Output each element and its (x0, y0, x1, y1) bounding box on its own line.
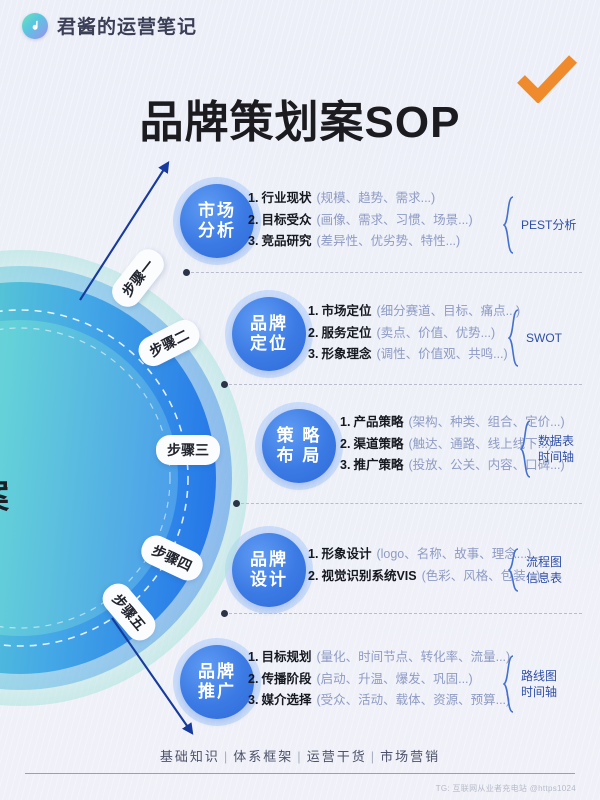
curly-brace-icon (503, 655, 516, 713)
item-sub: (受众、活动、载体、资源、预算...) (316, 694, 510, 707)
brace-label-line1: SWOT (526, 330, 562, 346)
footer-tag-0: 基础知识 (160, 749, 220, 764)
section-divider-2 (224, 384, 582, 385)
brand-title: 君酱的运营笔记 (57, 12, 197, 39)
divider-dot-3 (233, 500, 240, 507)
brace-label-2: SWOT (526, 330, 562, 346)
divider-dot-1 (183, 269, 190, 276)
badge-line1: 策 略 (277, 426, 322, 446)
brace-label-5: 路线图 时间轴 (521, 668, 557, 700)
item-key: 传播阶段 (261, 673, 311, 686)
item-sub: (细分赛道、目标、痛点...) (376, 305, 520, 318)
item-key: 服务定位 (321, 327, 371, 340)
brace-label-3: 数据表 时间轴 (538, 433, 574, 465)
item-key: 媒介选择 (261, 694, 311, 707)
footer-tags: 基础知识|体系框架|运营干货|市场营销 (0, 746, 600, 766)
footer-tag-3: 市场营销 (380, 749, 440, 764)
badge-line1: 市场 (198, 201, 236, 221)
item-sub: (卖点、价值、优势...) (376, 327, 495, 340)
brand-plan-wheel: 品 牌 策划案 (0, 248, 250, 708)
infographic-page: 君酱的运营笔记 品牌策划案SOP (0, 0, 600, 800)
brace-label-4: 流程图 信息表 (526, 554, 562, 586)
footer-divider (25, 773, 575, 774)
item-number: 2. (340, 438, 350, 451)
divider-dot-2 (221, 381, 228, 388)
divider-dot-4 (221, 610, 228, 617)
item-number: 2. (308, 570, 318, 583)
item-key: 目标受众 (261, 214, 311, 227)
list-item: 1. 目标规划 (量化、时间节点、转化率、流量...) (248, 651, 510, 664)
brace-label-line2: 信息表 (526, 570, 562, 586)
list-item: 1. 市场定位 (细分赛道、目标、痛点...) (308, 305, 520, 318)
brace-group-5: 路线图 时间轴 (503, 655, 557, 713)
list-item: 1. 行业现状 (规模、趋势、需求...) (248, 192, 473, 205)
curly-brace-icon (508, 548, 521, 592)
item-sub: (调性、价值观、共鸣...) (376, 348, 507, 361)
item-number: 1. (248, 192, 258, 205)
item-sub: (量化、时间节点、转化率、流量...) (316, 651, 510, 664)
section-divider-1 (186, 272, 582, 273)
item-key: 视觉识别系统VIS (321, 570, 416, 583)
badge-line2: 布 局 (277, 446, 322, 466)
list-item: 1. 形象设计 (logo、名称、故事、理念...) (308, 548, 540, 561)
brace-group-4: 流程图 信息表 (508, 548, 562, 592)
item-number: 1. (340, 416, 350, 429)
badge-market-analysis: 市场 分析 (180, 184, 254, 258)
list-item: 2. 传播阶段 (启动、升温、爆发、巩固...) (248, 673, 510, 686)
brace-label-line1: 数据表 (538, 433, 574, 449)
section-items-4: 1. 形象设计 (logo、名称、故事、理念...) 2. 视觉识别系统VIS … (308, 548, 540, 591)
header: 君酱的运营笔记 (22, 12, 197, 39)
footer-tag-2: 运营干货 (307, 749, 367, 764)
brace-label-line1: 流程图 (526, 554, 562, 570)
item-key: 市场定位 (321, 305, 371, 318)
section-divider-4 (224, 613, 582, 614)
item-number: 1. (308, 548, 318, 561)
brace-group-3: 数据表 时间轴 (520, 420, 574, 478)
brace-label-line1: PEST分析 (521, 217, 576, 233)
step-pill-3: 步骤三 (156, 435, 220, 465)
item-key: 行业现状 (261, 192, 311, 205)
brace-label-1: PEST分析 (521, 217, 576, 233)
item-sub: (规模、趋势、需求...) (316, 192, 435, 205)
item-key: 竞品研究 (261, 235, 311, 248)
badge-line2: 设计 (250, 570, 288, 590)
section-items-5: 1. 目标规划 (量化、时间节点、转化率、流量...) 2. 传播阶段 (启动、… (248, 651, 510, 716)
orange-check-icon (516, 55, 578, 108)
item-key: 推广策略 (353, 459, 403, 472)
list-item: 2. 服务定位 (卖点、价值、优势...) (308, 327, 520, 340)
brace-group-2: SWOT (508, 309, 562, 367)
section-items-2: 1. 市场定位 (细分赛道、目标、痛点...) 2. 服务定位 (卖点、价值、优… (308, 305, 520, 370)
list-item: 3. 媒介选择 (受众、活动、载体、资源、预算...) (248, 694, 510, 707)
wheel-center-line2: 策划案 (0, 473, 120, 522)
brace-label-line2: 时间轴 (538, 449, 574, 465)
item-key: 产品策略 (353, 416, 403, 429)
item-number: 1. (308, 305, 318, 318)
list-item: 3. 形象理念 (调性、价值观、共鸣...) (308, 348, 520, 361)
badge-line1: 品牌 (250, 550, 288, 570)
page-title: 品牌策划案SOP (0, 86, 600, 150)
item-key: 渠道策略 (353, 438, 403, 451)
item-sub: (画像、需求、习惯、场景...) (316, 214, 472, 227)
item-number: 3. (248, 235, 258, 248)
badge-strategy-layout: 策 略 布 局 (262, 409, 336, 483)
list-item: 2. 目标受众 (画像、需求、习惯、场景...) (248, 214, 473, 227)
list-item: 2. 视觉识别系统VIS (色彩、风格、包装...) (308, 570, 540, 583)
badge-line2: 分析 (198, 221, 236, 241)
item-number: 3. (340, 459, 350, 472)
item-sub: (差异性、优劣势、特性...) (316, 235, 460, 248)
wheel-center-line1: 品 牌 (0, 424, 120, 473)
badge-line2: 定位 (250, 334, 288, 354)
item-key: 目标规划 (261, 651, 311, 664)
item-number: 3. (308, 348, 318, 361)
item-key: 形象设计 (321, 548, 371, 561)
brace-group-1: PEST分析 (503, 196, 576, 254)
curly-brace-icon (503, 196, 516, 254)
item-key: 形象理念 (321, 348, 371, 361)
brace-label-line2: 时间轴 (521, 684, 557, 700)
brace-label-line1: 路线图 (521, 668, 557, 684)
list-item: 3. 竞品研究 (差异性、优劣势、特性...) (248, 235, 473, 248)
watermark: TG: 互联网从业者充电站 @https1024 (436, 783, 576, 794)
section-divider-3 (236, 503, 582, 504)
section-items-1: 1. 行业现状 (规模、趋势、需求...) 2. 目标受众 (画像、需求、习惯、… (248, 192, 473, 257)
curly-brace-icon (508, 309, 521, 367)
item-number: 2. (248, 214, 258, 227)
badge-line1: 品牌 (250, 314, 288, 334)
music-note-icon (22, 13, 48, 39)
item-sub: (启动、升温、爆发、巩固...) (316, 673, 472, 686)
curly-brace-icon (520, 420, 533, 478)
footer-tag-1: 体系框架 (233, 749, 293, 764)
item-number: 2. (308, 327, 318, 340)
